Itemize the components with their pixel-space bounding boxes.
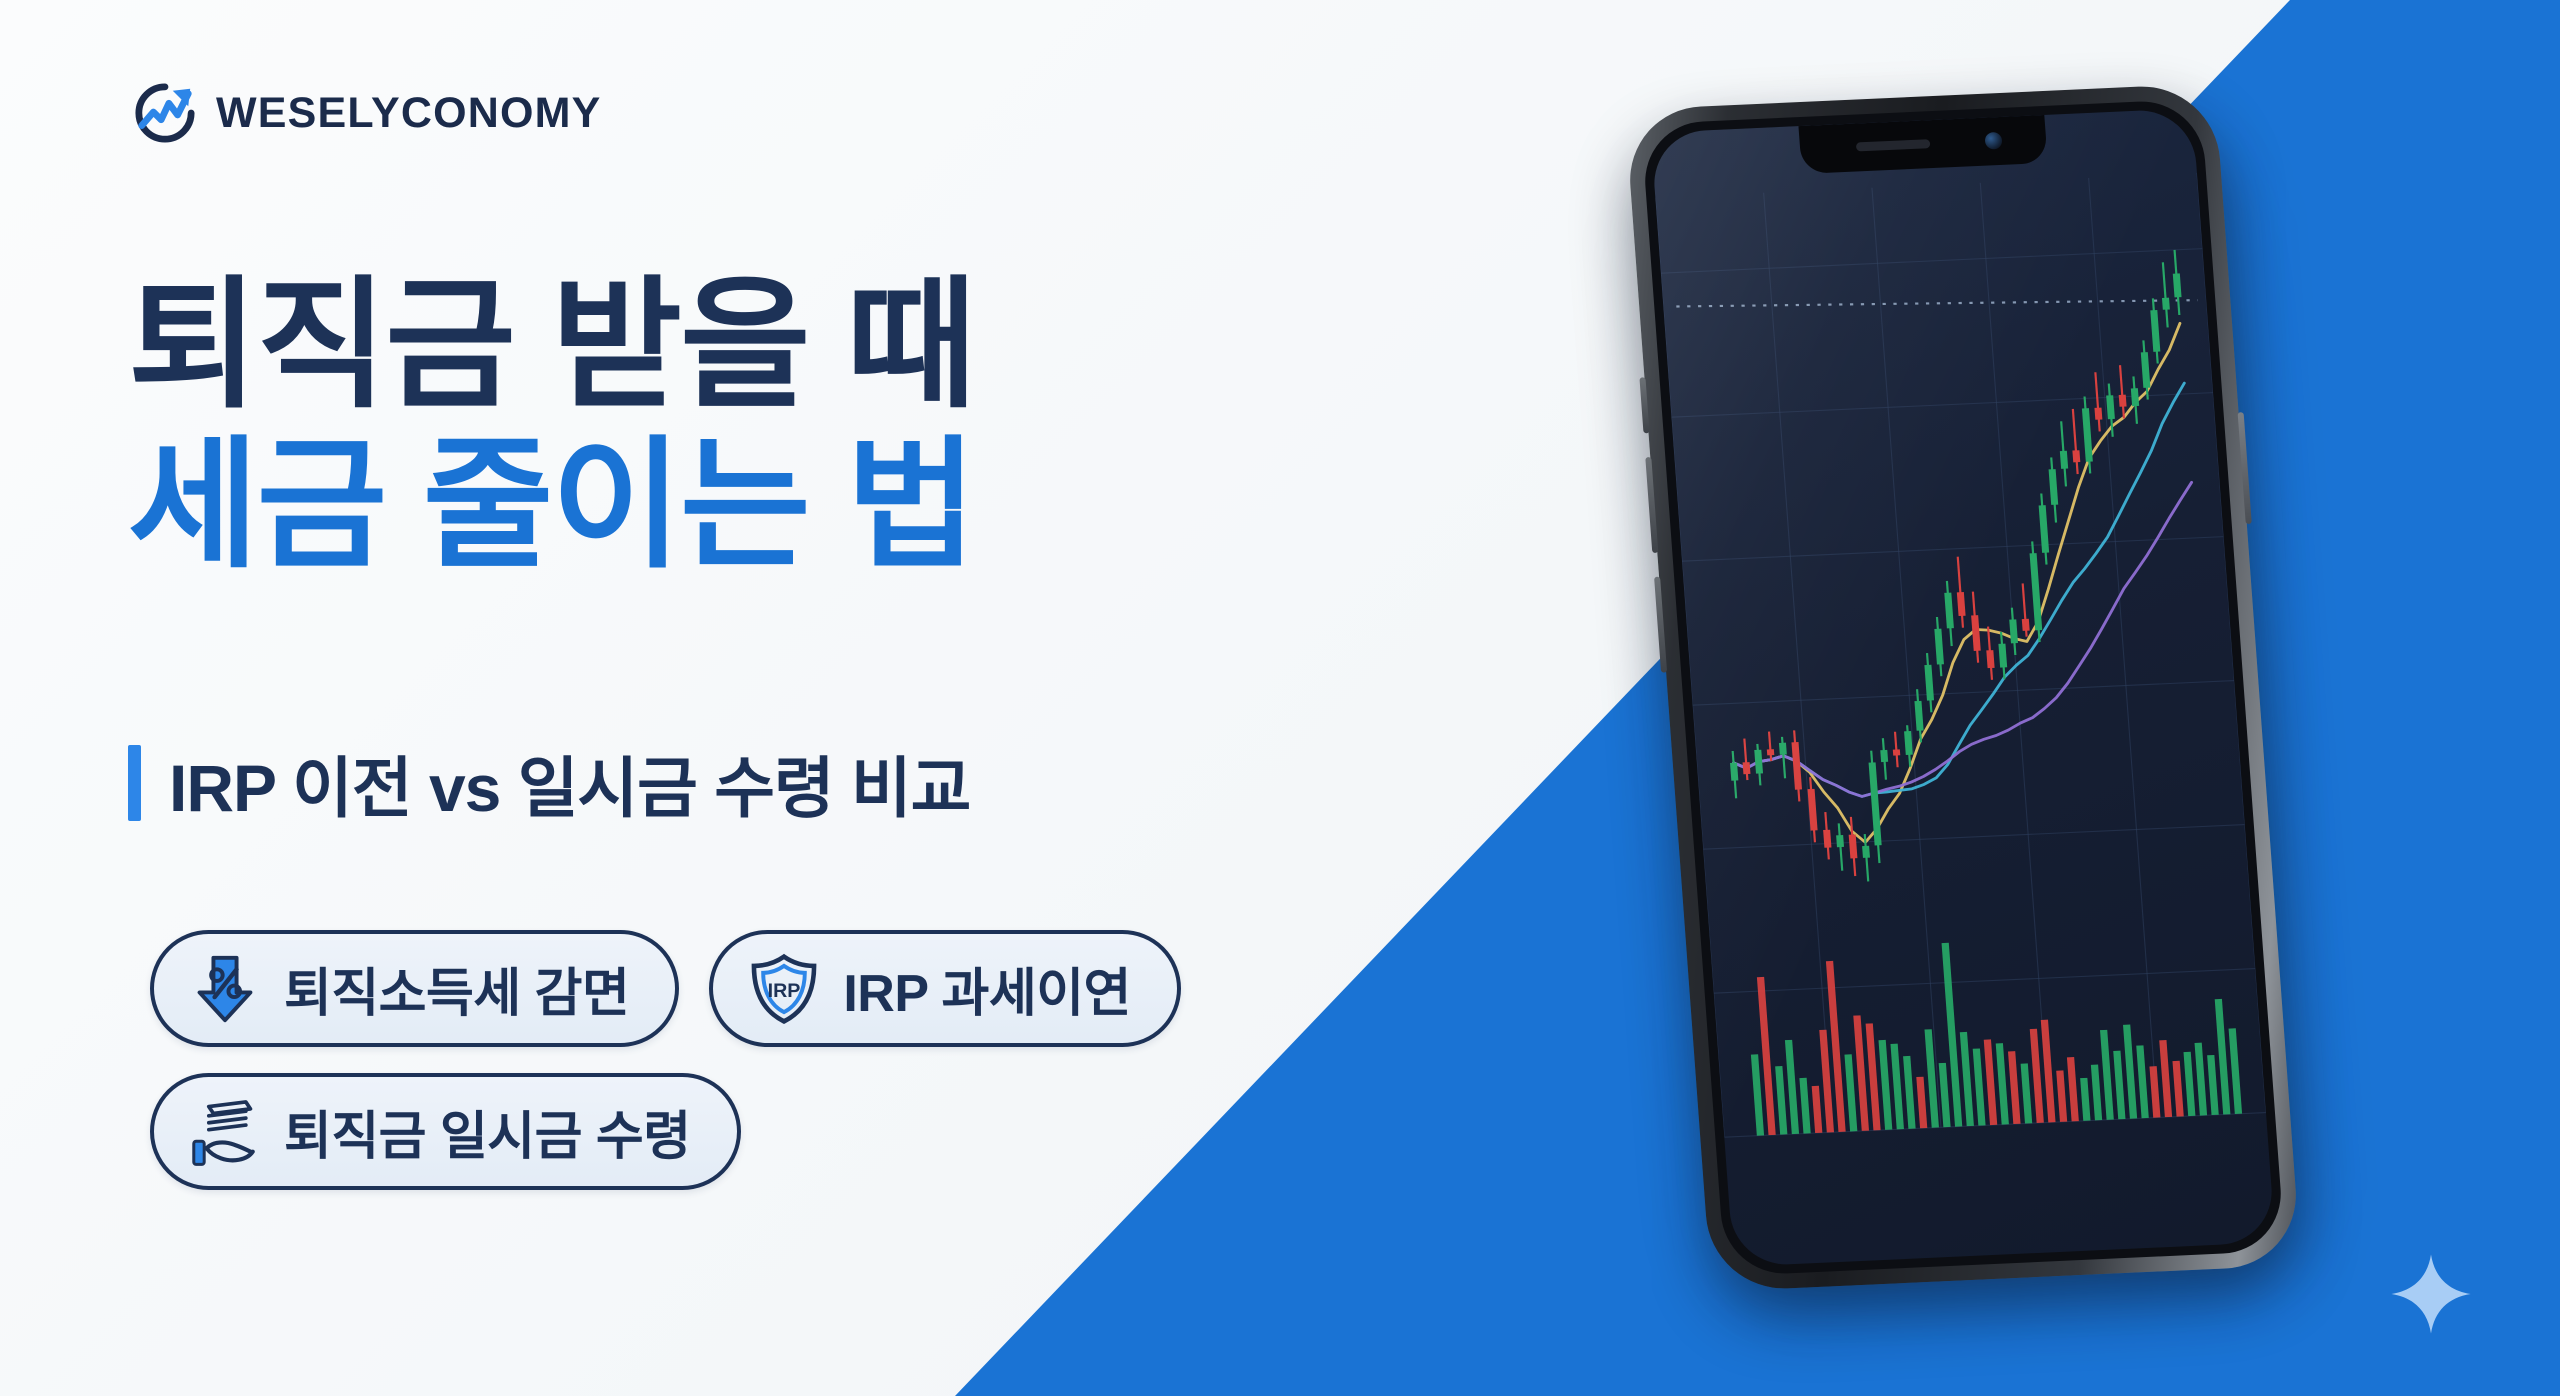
brand-logo: WESELYCONOMY bbox=[134, 82, 602, 144]
badge-irp-tax-deferral[interactable]: IRP IRP 과세이연 bbox=[709, 930, 1181, 1047]
brand-name: WESELYCONOMY bbox=[216, 89, 602, 138]
front-camera-icon bbox=[1984, 132, 2002, 150]
irp-shield-icon: IRP bbox=[747, 952, 821, 1026]
subtitle-accent-bar bbox=[128, 745, 141, 821]
volume-up-button[interactable] bbox=[1645, 457, 1658, 553]
earpiece-speaker bbox=[1856, 139, 1931, 151]
circular-chart-arrow-icon bbox=[134, 82, 196, 144]
badge-label: IRP 과세이연 bbox=[843, 951, 1131, 1026]
badge-row-1: 퇴직소득세 감면 IRP IRP 과세이연 bbox=[150, 930, 1570, 1047]
four-point-sparkle-icon bbox=[2388, 1248, 2474, 1340]
volume-down-button[interactable] bbox=[1654, 577, 1667, 673]
feature-badge-group: 퇴직소득세 감면 IRP IRP 과세이연 bbox=[150, 930, 1570, 1216]
banner-canvas: WESELYCONOMY 퇴직금 받을 때 세금 줄이는 법 IRP 이전 vs… bbox=[0, 0, 2560, 1396]
badge-lump-sum-payout[interactable]: 퇴직금 일시금 수령 bbox=[150, 1073, 741, 1190]
badge-row-2: 퇴직금 일시금 수령 bbox=[150, 1073, 1570, 1190]
candlestick-chart bbox=[1651, 108, 2276, 1267]
phone-body bbox=[1625, 83, 2301, 1292]
phone-mockup bbox=[1625, 83, 2301, 1292]
headline-line-1: 퇴직금 받을 때 bbox=[128, 268, 1408, 424]
headline-line-2: 세금 줄이는 법 bbox=[128, 428, 1408, 584]
phone-bezel bbox=[1641, 99, 2285, 1276]
badge-tax-reduction[interactable]: 퇴직소득세 감면 bbox=[150, 930, 679, 1047]
subtitle: IRP 이전 vs 일시금 수령 비교 bbox=[128, 735, 970, 831]
subtitle-text: IRP 이전 vs 일시금 수령 비교 bbox=[169, 735, 970, 831]
percent-down-arrow-icon bbox=[188, 952, 262, 1026]
badge-label: 퇴직소득세 감면 bbox=[284, 951, 629, 1026]
silent-switch[interactable] bbox=[1639, 377, 1649, 433]
page-title: 퇴직금 받을 때 세금 줄이는 법 bbox=[128, 268, 1408, 584]
badge-label: 퇴직금 일시금 수령 bbox=[284, 1094, 691, 1169]
svg-text:IRP: IRP bbox=[768, 980, 801, 1002]
phone-screen[interactable] bbox=[1651, 108, 2276, 1267]
hand-cash-icon bbox=[188, 1095, 262, 1169]
